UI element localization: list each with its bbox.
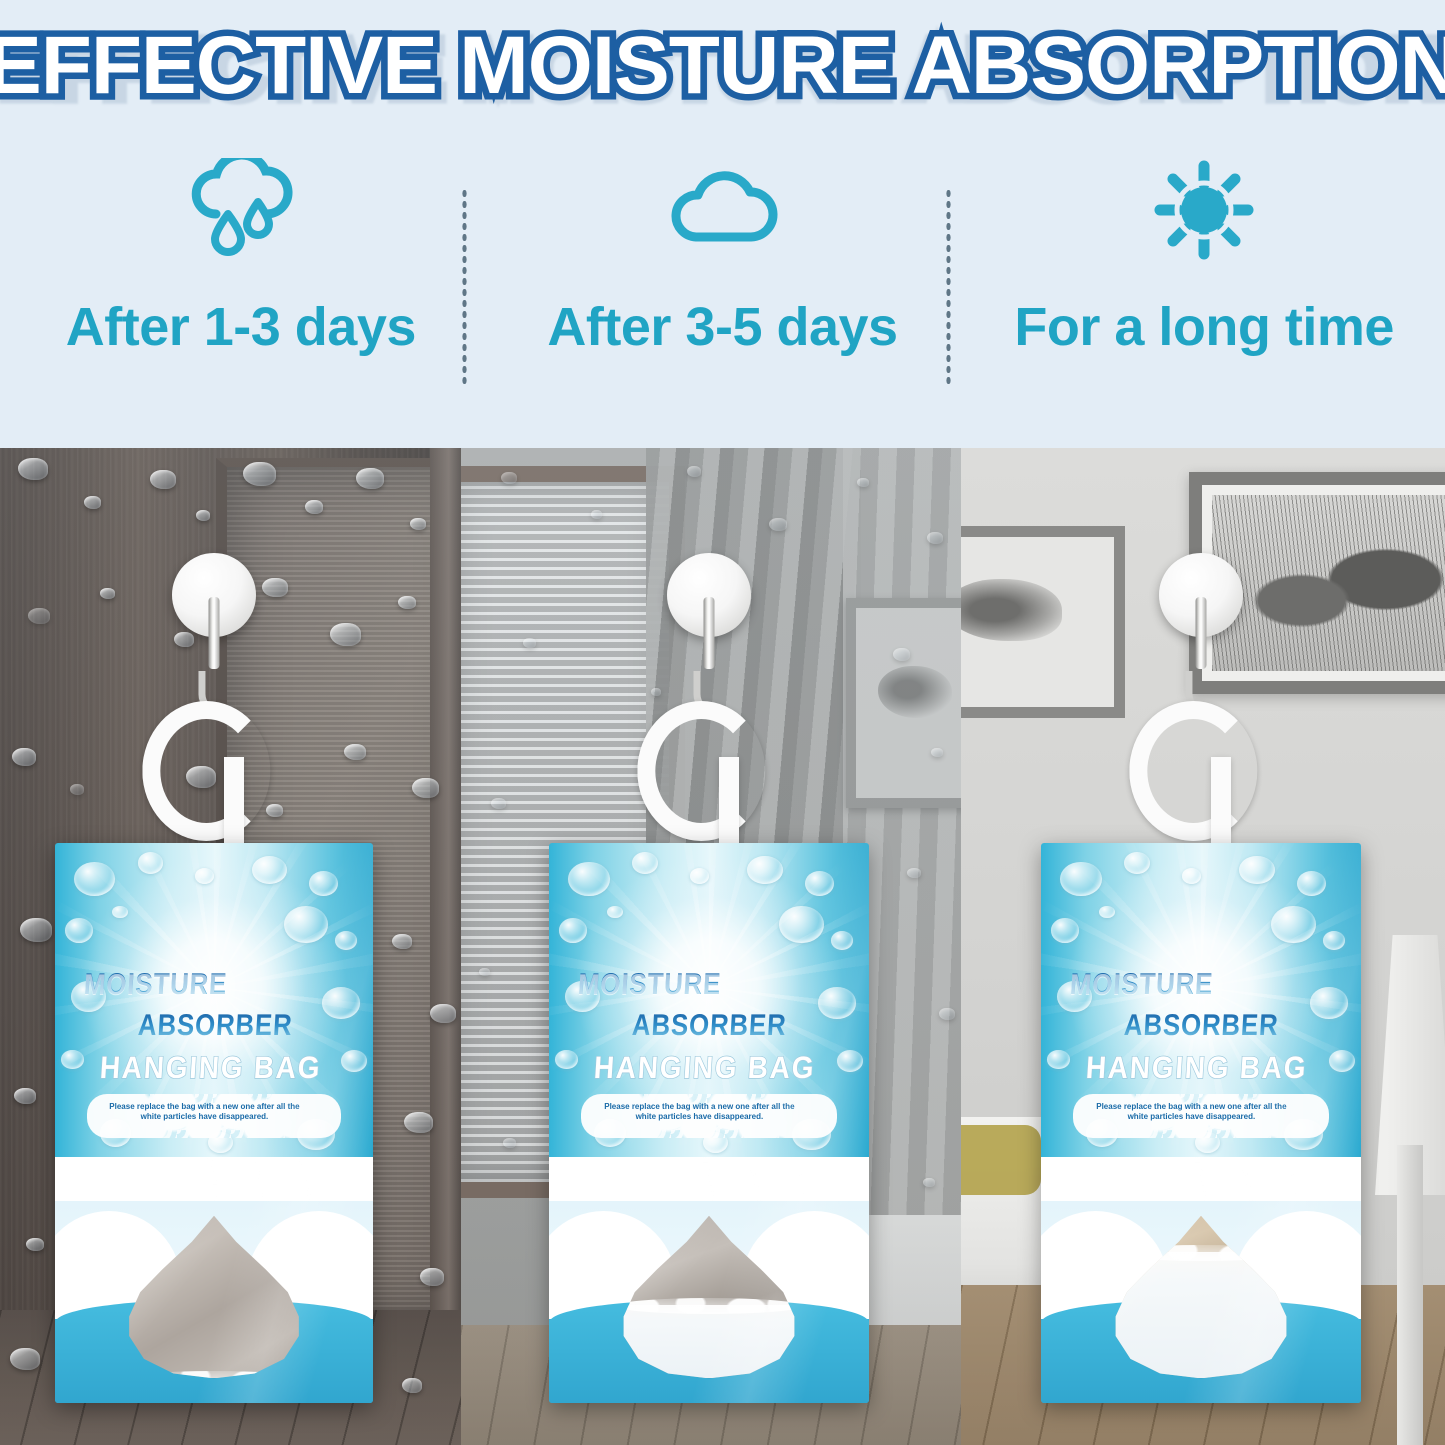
moisture-absorber-bag-stage-1: MOISTURE ABSORBER HANGING BAG Please rep…: [55, 843, 373, 1403]
hanger-stem: [224, 757, 244, 853]
photo-panel-stage-3: MOISTURE ABSORBER HANGING BAG Please rep…: [961, 448, 1445, 1445]
hanger-hook: [1129, 701, 1257, 841]
legend-item-stage-2: After 3-5 days: [482, 150, 964, 410]
infographic-root: EFFECTIVE MOISTURE ABSORPTION EFFECTIVE …: [0, 0, 1445, 1445]
replace-instruction-text: Please replace the bag with a new one af…: [594, 1102, 805, 1122]
legend-item-stage-1: After 1-3 days: [0, 150, 482, 410]
bag-lower-reservoir: [549, 1157, 869, 1403]
wall-picture-frame-small: [961, 526, 1125, 718]
cloud-graphic-top: [55, 1157, 373, 1201]
bag-upper-label: MOISTURE ABSORBER HANGING BAG Please rep…: [55, 843, 373, 1157]
page-title: EFFECTIVE MOISTURE ABSORPTION: [0, 18, 1445, 114]
rain-cloud-icon: [176, 158, 306, 262]
bag-upper-label: MOISTURE ABSORBER HANGING BAG Please rep…: [549, 843, 869, 1157]
replace-instruction-text: Please replace the bag with a new one af…: [100, 1102, 310, 1122]
legend-label-stage-2: After 3-5 days: [547, 296, 897, 358]
bag-lower-reservoir: [1041, 1157, 1361, 1403]
photo-panel-stage-1: MOISTURE ABSORBER HANGING BAG Please rep…: [0, 448, 461, 1445]
bag-upper-label: MOISTURE ABSORBER HANGING BAG Please rep…: [1041, 843, 1361, 1157]
moisture-absorber-bag-stage-3: MOISTURE ABSORBER HANGING BAG Please rep…: [1041, 843, 1361, 1403]
hanger-hook: [142, 701, 270, 841]
bag-lower-reservoir: [55, 1157, 373, 1403]
legend-label-stage-1: After 1-3 days: [66, 296, 416, 358]
stage-photo-panels: MOISTURE ABSORBER HANGING BAG Please rep…: [0, 448, 1445, 1445]
wall-hook-stage-2: [667, 553, 751, 637]
photo-panel-stage-2: MOISTURE ABSORBER HANGING BAG Please rep…: [461, 448, 961, 1445]
wall-hook-stage-3: [1159, 553, 1243, 637]
sun-icon: [1144, 158, 1264, 262]
floor-lamp-stand: [1397, 1145, 1423, 1445]
legend-divider-1: [461, 188, 468, 384]
pillow: [961, 1125, 1041, 1195]
legend-divider-2: [945, 188, 952, 384]
wall-picture-frame: [846, 598, 961, 808]
door-frame: [430, 448, 461, 1445]
hanger-stem: [1211, 757, 1231, 853]
hanger-hook: [637, 701, 765, 841]
cloud-graphic-top: [1041, 1157, 1361, 1201]
moisture-absorber-bag-stage-2: MOISTURE ABSORBER HANGING BAG Please rep…: [549, 843, 869, 1403]
wall-hook-stage-1: [172, 553, 256, 637]
cloud-icon: [658, 158, 788, 262]
replace-instruction-text: Please replace the bag with a new one af…: [1086, 1102, 1297, 1122]
legend-item-stage-3: For a long time: [963, 150, 1445, 410]
legend-label-stage-3: For a long time: [1014, 296, 1394, 358]
header-band: EFFECTIVE MOISTURE ABSORPTION EFFECTIVE …: [0, 0, 1445, 448]
cloud-graphic-top: [549, 1157, 869, 1201]
stage-legend: After 1-3 days After 3-5 days: [0, 150, 1445, 410]
hanger-stem: [719, 757, 739, 853]
